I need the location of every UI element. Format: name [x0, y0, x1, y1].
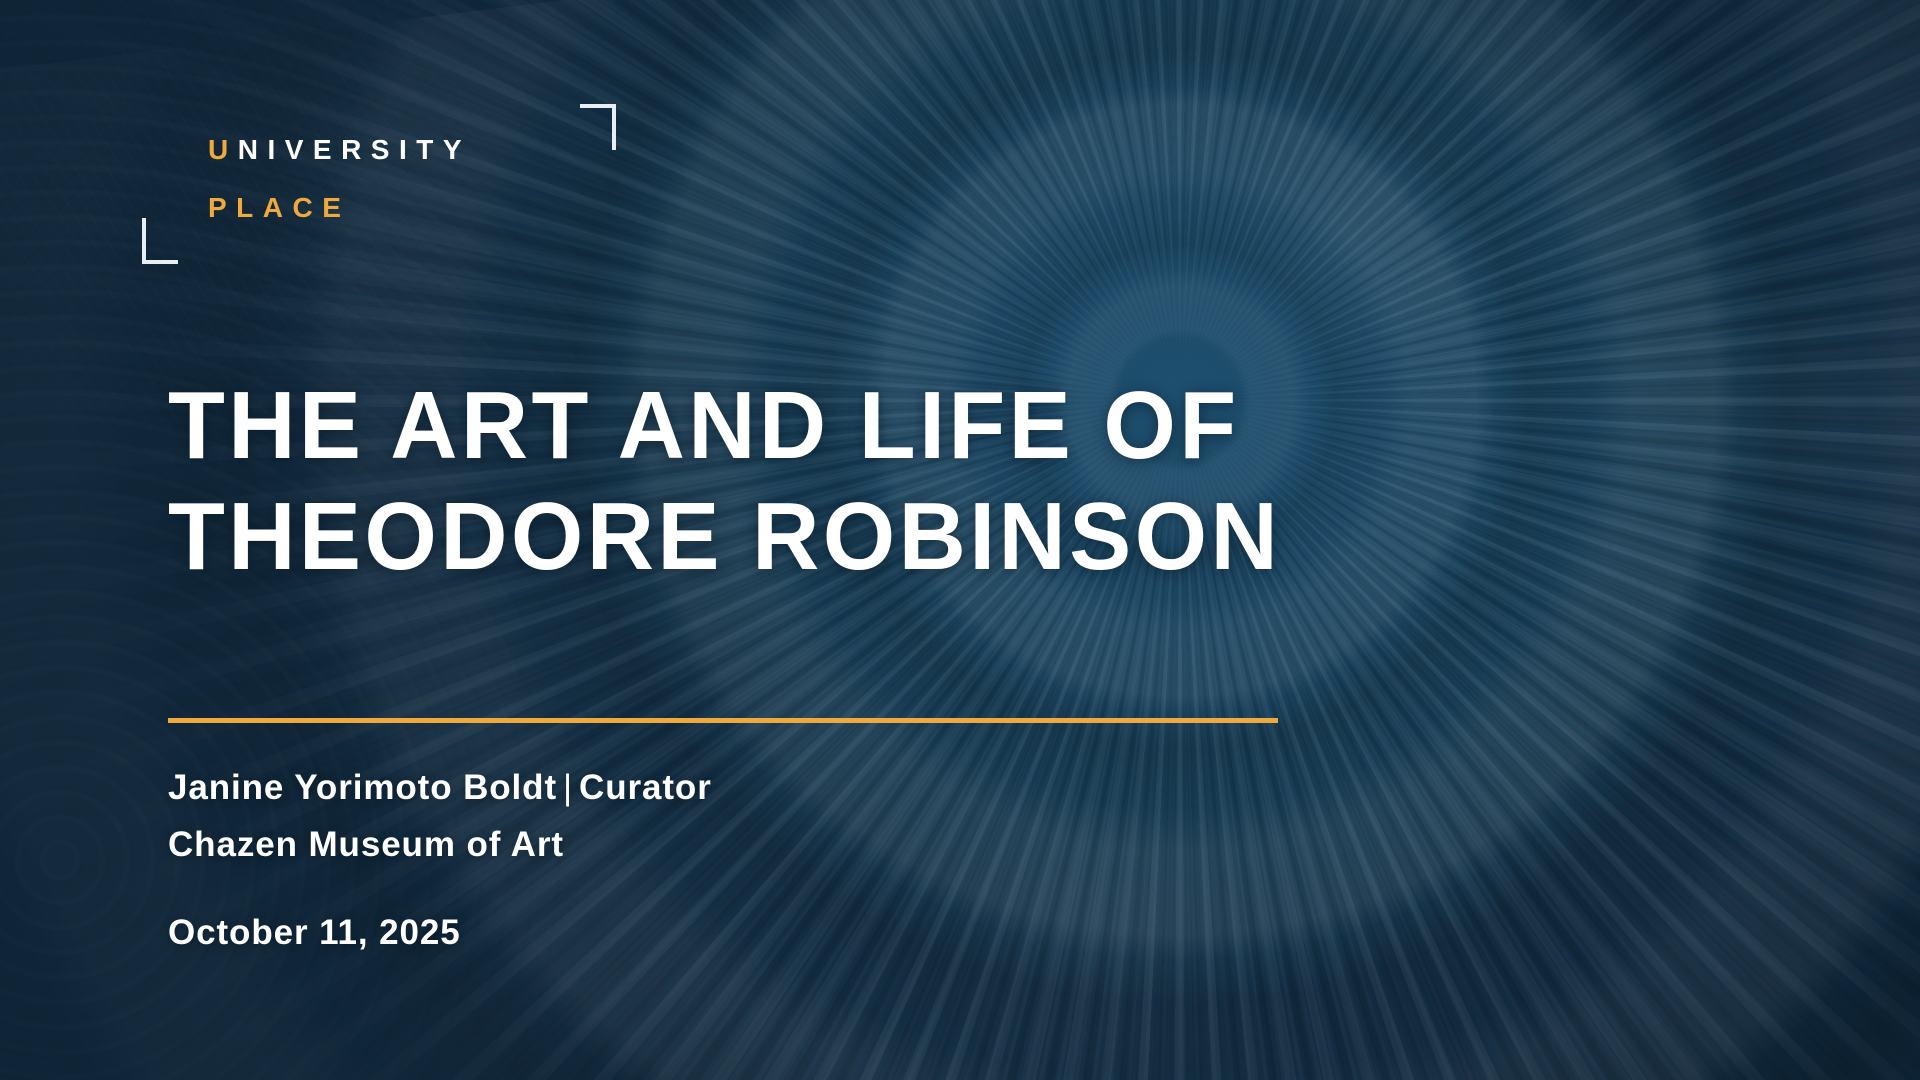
accent-divider-rule [168, 718, 1278, 723]
title-slide: UNIVERSITY PLACE THE ART AND LIFE OF THE… [0, 0, 1920, 1080]
presenter-role: Curator [579, 768, 712, 807]
presenter-details: Janine Yorimoto Boldt|Curator Chazen Mus… [168, 760, 1368, 953]
page-title: THE ART AND LIFE OF THEODORE ROBINSON [168, 370, 1588, 593]
title-line-2: THEODORE ROBINSON [168, 481, 1545, 592]
university-place-logo: UNIVERSITY PLACE [168, 104, 608, 264]
logo-accent-letter: U [208, 134, 238, 165]
logo-line-university-rest: NIVERSITY [238, 134, 471, 165]
logo-corner-bracket-top-right-icon [580, 104, 616, 150]
title-line-1: THE ART AND LIFE OF [168, 370, 1545, 481]
logo-line-place: PLACE [208, 194, 350, 222]
presenter-name-and-role: Janine Yorimoto Boldt|Curator [168, 760, 1368, 817]
logo-corner-bracket-bottom-left-icon [142, 218, 178, 264]
presenter-name: Janine Yorimoto Boldt [168, 768, 557, 807]
logo-line-university: UNIVERSITY [208, 136, 471, 164]
presentation-date: October 11, 2025 [168, 913, 1368, 953]
presenter-organization: Chazen Museum of Art [168, 817, 1368, 874]
presenter-separator: | [557, 768, 579, 807]
